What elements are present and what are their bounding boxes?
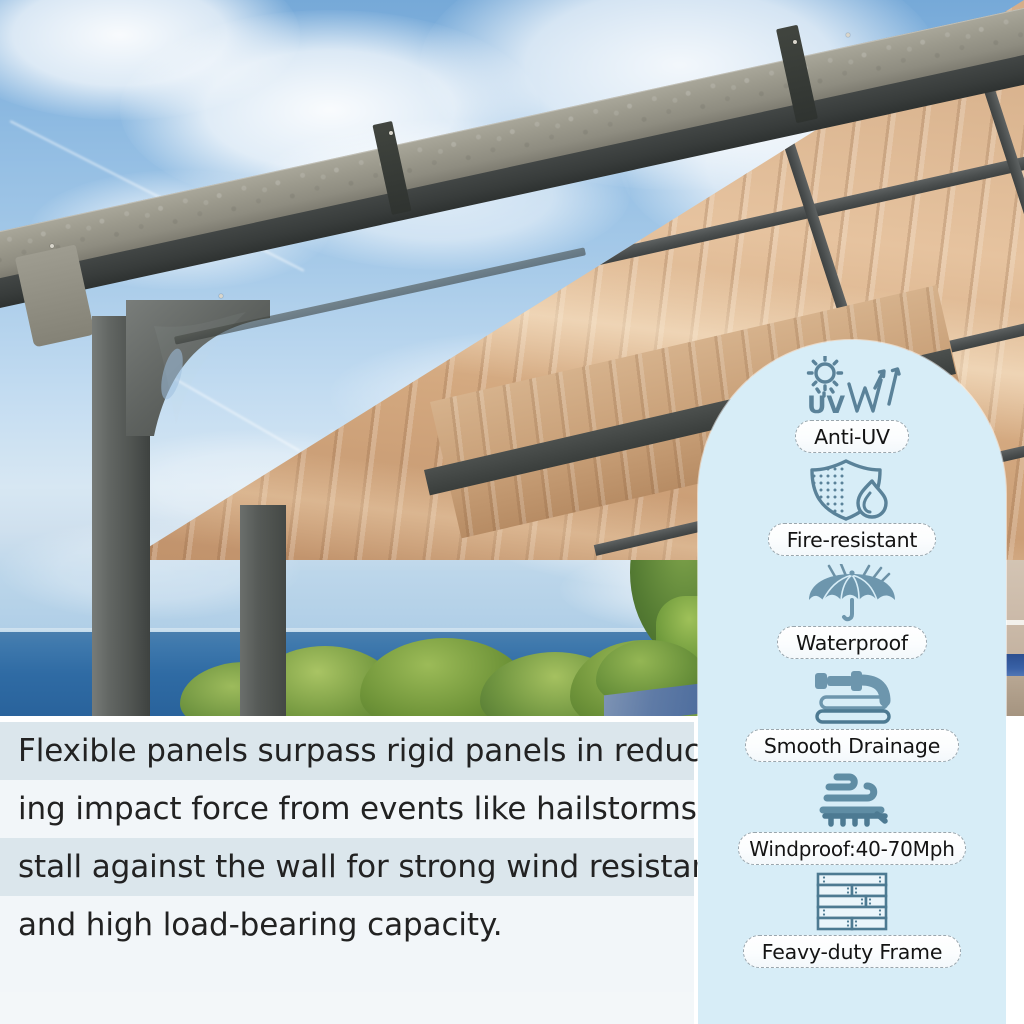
bolt <box>50 244 54 248</box>
caption-line: ing impact force from events like hailst… <box>0 780 694 838</box>
caption-bottom-padding <box>0 954 694 992</box>
feature-smooth-drainage: Smooth Drainage <box>698 665 1006 768</box>
garden-hose-icon <box>797 665 907 727</box>
bolt <box>389 131 393 135</box>
feature-label-windproof[interactable]: Windproof:40-70Mph <box>738 832 965 865</box>
svg-text:UV: UV <box>807 391 845 418</box>
feature-label-smooth-drainage[interactable]: Smooth Drainage <box>745 729 959 762</box>
umbrella-rain-icon <box>797 562 907 624</box>
feature-label-heavy-duty-frame[interactable]: Feavy-duty Frame <box>743 935 962 968</box>
bolt <box>219 294 223 298</box>
fire-shield-icon <box>804 459 900 521</box>
wind-icon <box>797 768 907 830</box>
feature-label-waterproof[interactable]: Waterproof <box>777 626 927 659</box>
bolt <box>793 40 797 44</box>
caption-block: Flexible panels surpass rigid panels in … <box>0 722 694 1024</box>
feature-highlights-panel: UV Anti-UV <box>698 340 1006 1024</box>
feature-windproof: Windproof:40-70Mph <box>698 768 1006 871</box>
feature-fire-resistant: Fire-resistant <box>698 459 1006 562</box>
feature-waterproof: Waterproof <box>698 562 1006 665</box>
caption-line: and high load-bearing capacity. <box>0 896 694 954</box>
bolt <box>846 33 850 37</box>
stacked-frame-icon <box>812 871 892 933</box>
caption-line: stall against the wall for strong wind r… <box>0 838 694 896</box>
feature-heavy-duty-frame: Feavy-duty Frame <box>698 871 1006 974</box>
feature-anti-uv: UV Anti-UV <box>698 356 1006 459</box>
caption-line: Flexible panels surpass rigid panels in … <box>0 722 694 780</box>
product-marketing-image: Flexible panels surpass rigid panels in … <box>0 0 1024 1024</box>
feature-label-fire-resistant[interactable]: Fire-resistant <box>768 523 936 556</box>
support-post-center <box>240 505 286 716</box>
feature-label-anti-uv[interactable]: Anti-UV <box>795 420 909 453</box>
uv-sun-icon: UV <box>793 356 911 418</box>
